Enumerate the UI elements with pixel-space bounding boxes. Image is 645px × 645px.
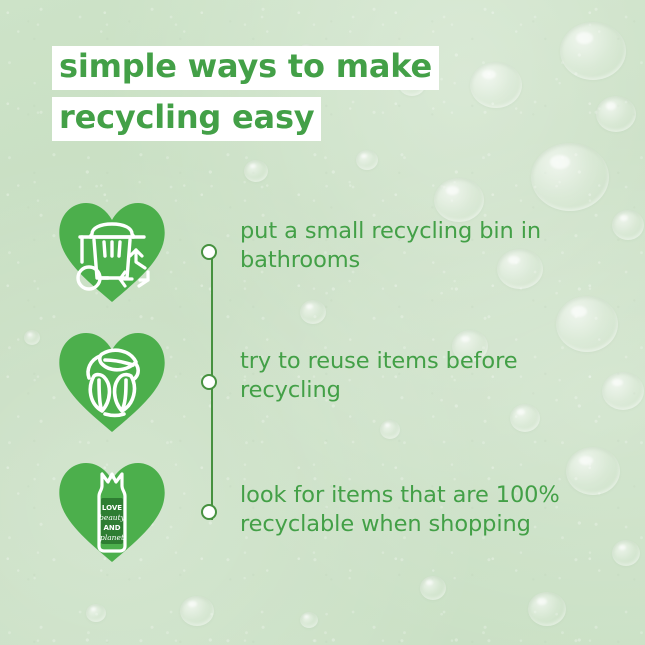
bottle-label-line-3: AND bbox=[103, 524, 120, 532]
list-item-label: look for items that are 100% recyclable … bbox=[240, 481, 600, 540]
heart-bottle-icon: LOVE beauty AND planet bbox=[56, 460, 168, 564]
page-title: simple ways to make recycling easy bbox=[52, 46, 439, 148]
list-item: put a small recycling bin in bathrooms bbox=[0, 195, 645, 315]
page-title-line-1: simple ways to make bbox=[52, 46, 439, 90]
list-item: try to reuse items before recycling bbox=[0, 325, 645, 445]
recycling-tips-infographic: simple ways to make recycling easy bbox=[0, 0, 645, 645]
list-item: LOVE beauty AND planet look for items th… bbox=[0, 455, 645, 575]
list-item-label: try to reuse items before recycling bbox=[240, 347, 600, 406]
list-item-label: put a small recycling bin in bathrooms bbox=[240, 217, 600, 276]
bottle-label-line-1: LOVE bbox=[102, 504, 122, 512]
heart-recycling-bin-icon bbox=[56, 200, 168, 304]
heart-three-leaves-recycle-icon bbox=[56, 330, 168, 434]
bottle-label-line-4: planet bbox=[100, 533, 125, 542]
page-title-line-2: recycling easy bbox=[52, 97, 321, 141]
bottle-label-line-2: beauty bbox=[99, 513, 126, 522]
